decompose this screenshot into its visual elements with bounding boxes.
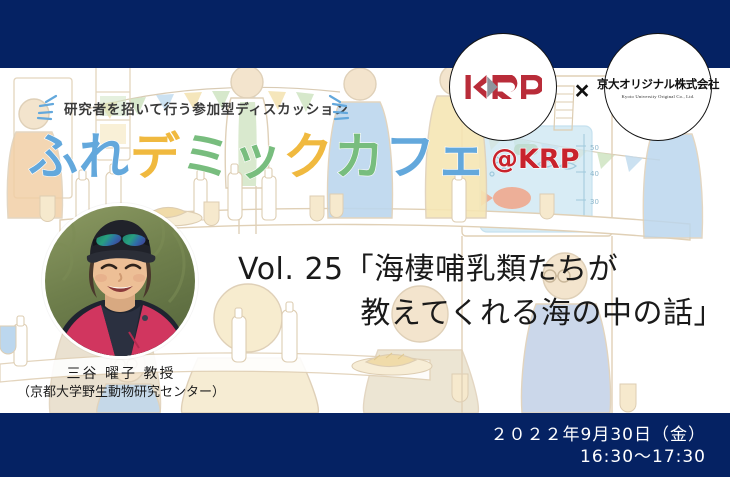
talk-title-line2: 教えてくれる海の中の話」 bbox=[238, 292, 726, 336]
venue-tag: @KRP bbox=[491, 144, 580, 175]
brand-title-char-0: ふ bbox=[28, 128, 79, 186]
brand-title-char-5: ク bbox=[283, 128, 334, 186]
cross-separator: × bbox=[568, 77, 596, 105]
kicker-row: 研究者を招いて行う参加型ディスカッション bbox=[26, 96, 356, 126]
brand-title-char-1: れ bbox=[79, 128, 130, 186]
sparkle-right-icon bbox=[322, 92, 360, 122]
kyodai-original-name-jp: 京大オリジナル株式会社 bbox=[597, 76, 719, 92]
sparkle-left-icon bbox=[26, 92, 64, 122]
brand-title-char-2: デ bbox=[130, 128, 181, 186]
svg-text:40: 40 bbox=[590, 170, 599, 178]
event-datetime: ２０２２年9月30日（金） 16:30〜17:30 bbox=[491, 424, 706, 469]
svg-text:50: 50 bbox=[590, 144, 599, 152]
kyodai-original-logo-circle: 京大オリジナル株式会社 Kyoto University Original Co… bbox=[604, 33, 712, 141]
krp-logo-circle bbox=[449, 33, 557, 141]
brand-title-char-7: フ bbox=[385, 128, 436, 186]
speaker-portrait bbox=[42, 203, 198, 359]
svg-text:30: 30 bbox=[590, 198, 599, 206]
brand-title-char-4: ッ bbox=[232, 128, 283, 186]
talk-title-line1: Vol. 25「海棲哺乳類たちが bbox=[238, 248, 726, 292]
kicker-text: 研究者を招いて行う参加型ディスカッション bbox=[64, 98, 349, 118]
brand-title: ふれデミックカフェ@KRP bbox=[28, 126, 580, 188]
kyodai-original-name-en: Kyoto University Original Co., Ltd. bbox=[622, 94, 695, 99]
krp-logo-icon bbox=[464, 70, 542, 104]
event-date: ２０２２年9月30日（金） bbox=[491, 424, 706, 446]
brand-title-char-8: ェ bbox=[436, 128, 487, 186]
brand-title-char-6: カ bbox=[334, 128, 385, 186]
speaker-affiliation: （京都大学野生動物研究センター） bbox=[0, 381, 242, 400]
event-time: 16:30〜17:30 bbox=[491, 446, 706, 468]
brand-title-char-3: ミ bbox=[181, 128, 232, 186]
speaker-name: 三谷 曜子 教授 bbox=[10, 363, 232, 383]
talk-title: Vol. 25「海棲哺乳類たちが 教えてくれる海の中の話」 bbox=[238, 248, 726, 335]
event-poster: 50 40 30 bbox=[0, 0, 730, 477]
